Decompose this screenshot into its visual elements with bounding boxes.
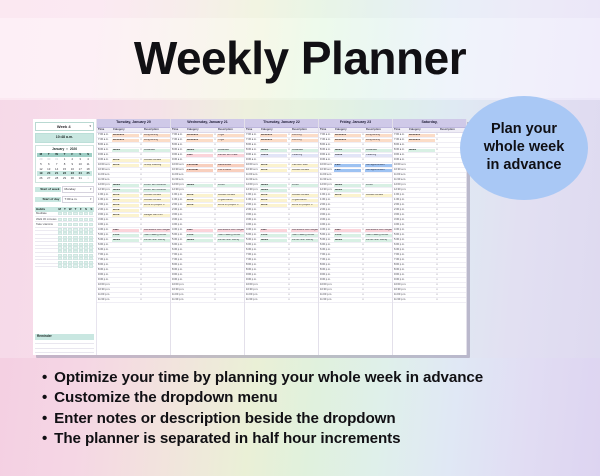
chevron-down-icon-slot[interactable]: ▾ <box>287 174 291 177</box>
slot-category-dropdown[interactable]: Pets <box>334 169 361 172</box>
chevron-down-icon-slot[interactable]: ▾ <box>213 254 217 257</box>
start-of-day-row[interactable]: Start of day 7:00 a.m. ▾ <box>35 196 94 203</box>
chevron-down-icon-slot[interactable]: ▾ <box>287 299 291 302</box>
week-selector[interactable]: Week 4 ▾ <box>35 122 94 131</box>
slot-time: 1:00 p.m. <box>171 194 186 197</box>
habit-checkbox[interactable] <box>73 264 77 267</box>
habit-checkbox[interactable] <box>58 218 62 221</box>
slot-description-input[interactable]: Vet appointment <box>365 169 392 172</box>
chevron-down-icon-slot[interactable]: ▾ <box>435 179 439 182</box>
slot-category-dropdown[interactable]: Meals <box>260 149 287 152</box>
chevron-down-icon-slot[interactable]: ▾ <box>213 179 217 182</box>
chevron-down-icon-slot[interactable]: ▾ <box>213 264 217 267</box>
slot-description-input[interactable]: Lunch <box>365 184 392 187</box>
day-column-0[interactable]: Tuesday, January 20TimeCategoryDescripti… <box>97 119 171 355</box>
slot-description-input[interactable]: Cleaning <box>291 154 318 157</box>
habit-checkbox[interactable] <box>68 218 72 221</box>
slot-description-input[interactable]: Running <box>291 139 318 142</box>
chevron-down-icon-slot[interactable]: ▾ <box>139 169 143 172</box>
slot-description-input[interactable]: Breakfast <box>143 149 170 152</box>
calendar-day-cell[interactable]: 29 <box>61 176 69 181</box>
chevron-down-icon-slot[interactable]: ▾ <box>435 149 439 152</box>
chevron-down-icon[interactable]: ▾ <box>89 125 91 128</box>
chevron-down-icon-slot[interactable]: ▾ <box>139 289 143 292</box>
slot-category-dropdown[interactable]: Meals <box>186 184 213 187</box>
slot-description-input[interactable]: Organization <box>217 199 244 202</box>
chevron-down-icon-slot[interactable]: ▾ <box>435 219 439 222</box>
slot-category-dropdown[interactable]: Meals <box>260 189 287 192</box>
slot-category-dropdown[interactable]: Kids <box>112 229 139 232</box>
habit-checkbox[interactable] <box>84 264 88 267</box>
reminder-line[interactable] <box>35 349 94 354</box>
day-columns[interactable]: Tuesday, January 20TimeCategoryDescripti… <box>97 119 467 355</box>
slot-description-input[interactable]: Answer emails <box>291 169 318 172</box>
schedule-slot[interactable]: 11:30 p.m.▾ <box>393 298 466 303</box>
chevron-down-icon-slot[interactable]: ▾ <box>139 284 143 287</box>
slot-description-input[interactable]: Vet appointment <box>365 164 392 167</box>
habit-checkbox[interactable] <box>58 264 62 267</box>
slot-category-dropdown[interactable]: Meals <box>112 184 139 187</box>
chevron-down-icon-slot[interactable]: ▾ <box>435 224 439 227</box>
weekly-planner-spreadsheet[interactable]: Week 4 ▾ 10:48 a.m. January ▾ 2026 MTWTF… <box>33 119 467 355</box>
habit-checkbox[interactable] <box>89 212 93 215</box>
slot-category-dropdown[interactable]: Meals <box>334 149 361 152</box>
habit-checkbox[interactable] <box>79 212 83 215</box>
habit-tracker[interactable]: HabitsMTWTFSS MeditateWalk 30 minutesTak… <box>35 207 94 267</box>
chevron-down-icon-slot[interactable]: ▾ <box>213 269 217 272</box>
chevron-down-icon-slot[interactable]: ▾ <box>139 259 143 262</box>
chevron-down-icon-slot[interactable]: ▾ <box>287 289 291 292</box>
chevron-down-icon-slot[interactable]: ▾ <box>213 244 217 247</box>
habit-row-empty[interactable] <box>35 264 94 268</box>
chevron-down-icon-slot[interactable]: ▾ <box>213 219 217 222</box>
chevron-down-icon-slot[interactable]: ▾ <box>435 289 439 292</box>
chevron-down-icon-slot[interactable]: ▾ <box>435 284 439 287</box>
slot-category-dropdown[interactable]: Food <box>186 234 213 237</box>
chevron-down-icon-slot[interactable]: ▾ <box>435 254 439 257</box>
slot-description-input[interactable]: Dinner with Family <box>365 239 392 242</box>
habit-checkbox[interactable] <box>58 212 62 215</box>
calendar-year[interactable]: 2026 <box>70 148 77 151</box>
day-column-4[interactable]: Saturday,TimeCategoryDescription7:00 a.m… <box>393 119 467 355</box>
chevron-down-icon-slot[interactable]: ▾ <box>435 299 439 302</box>
chevron-down-icon-slot[interactable]: ▾ <box>213 144 217 147</box>
chevron-down-icon-slot[interactable]: ▾ <box>139 209 143 212</box>
chevron-down-icon-slot[interactable]: ▾ <box>361 214 365 217</box>
chevron-down-icon-slot[interactable]: ▾ <box>361 209 365 212</box>
habit-checkbox[interactable] <box>89 264 93 267</box>
chevron-down-icon-slot[interactable]: ▾ <box>435 209 439 212</box>
slot-category-dropdown[interactable]: Meals <box>260 239 287 242</box>
chevron-down-icon-slot[interactable]: ▾ <box>435 174 439 177</box>
habit-checkbox[interactable] <box>63 218 67 221</box>
slot-description-input[interactable]: Yoga <box>217 134 244 137</box>
slot-description-input[interactable]: Homework with Megan <box>143 229 170 232</box>
chevron-down-icon-day[interactable]: ▾ <box>90 198 92 201</box>
habit-checkbox[interactable] <box>79 218 83 221</box>
chevron-down-icon-slot[interactable]: ▾ <box>213 224 217 227</box>
slot-description-input[interactable]: Homework with Megan <box>291 229 318 232</box>
chevron-down-icon-slot[interactable]: ▾ <box>361 189 365 192</box>
chevron-down-icon-slot[interactable]: ▾ <box>435 144 439 147</box>
chevron-down-icon-slot[interactable]: ▾ <box>361 279 365 282</box>
habit-checkbox[interactable] <box>84 218 88 221</box>
calendar-day-cell[interactable]: 30 <box>68 176 76 181</box>
start-of-day-dropdown[interactable]: 7:00 a.m. ▾ <box>62 196 94 203</box>
slot-description-input[interactable]: Start making dinner <box>365 234 392 237</box>
slot-category-dropdown[interactable]: Meals <box>260 184 287 187</box>
chevron-down-icon-slot[interactable]: ▾ <box>361 204 365 207</box>
chevron-down-icon-slot[interactable]: ▾ <box>435 239 439 242</box>
chevron-down-icon-slot[interactable]: ▾ <box>435 164 439 167</box>
slot-category-dropdown[interactable]: Meals <box>334 239 361 242</box>
chevron-down-icon-slot[interactable]: ▾ <box>435 204 439 207</box>
slot-description-input[interactable]: Answer emails <box>143 194 170 197</box>
chevron-down-icon-slot[interactable]: ▾ <box>361 244 365 247</box>
chevron-down-icon-slot[interactable]: ▾ <box>435 259 439 262</box>
slot-category-dropdown[interactable]: Work <box>260 204 287 207</box>
chevron-down-icon-slot[interactable]: ▾ <box>435 134 439 137</box>
slot-category-dropdown[interactable]: Wellness <box>408 139 435 142</box>
chevron-down-icon-slot[interactable]: ▾ <box>361 249 365 252</box>
chevron-down-icon-slot[interactable]: ▾ <box>287 284 291 287</box>
slot-category-dropdown[interactable]: Wellness <box>112 139 139 142</box>
slot-category-dropdown[interactable]: Meals <box>334 184 361 187</box>
chevron-down-icon-slot[interactable]: ▾ <box>139 264 143 267</box>
habit-checkbox[interactable] <box>63 223 67 226</box>
slot-category-dropdown[interactable]: Work <box>112 209 139 212</box>
slot-description-input[interactable]: Breakfast <box>217 149 244 152</box>
chevron-down-icon-slot[interactable]: ▾ <box>361 269 365 272</box>
slot-category-dropdown[interactable]: Work <box>186 194 213 197</box>
chevron-down-icon-slot[interactable]: ▾ <box>139 179 143 182</box>
slot-description-input[interactable]: Work on project X <box>217 204 244 207</box>
slot-category-dropdown[interactable]: Pets <box>334 164 361 167</box>
slot-description-input[interactable]: Dinner with Family <box>143 239 170 242</box>
slot-description-input[interactable]: Dinner with Family <box>217 239 244 242</box>
slot-description-input[interactable]: Homework with Megan <box>217 229 244 232</box>
habit-checkbox[interactable] <box>58 223 62 226</box>
slot-category-dropdown[interactable]: Food <box>112 234 139 237</box>
chevron-down-icon-slot[interactable]: ▾ <box>435 169 439 172</box>
slot-time: 8:00 p.m. <box>245 264 260 267</box>
chevron-down-icon-slot[interactable]: ▾ <box>435 294 439 297</box>
planner-control-panel[interactable]: Week 4 ▾ 10:48 a.m. January ▾ 2026 MTWTF… <box>33 119 97 355</box>
slot-category-dropdown[interactable]: Food <box>260 234 287 237</box>
chevron-down-icon-slot[interactable]: ▾ <box>287 144 291 147</box>
reminder-lines[interactable] <box>35 340 94 354</box>
chevron-down-icon-slot[interactable]: ▾ <box>287 294 291 297</box>
slot-description-input[interactable]: Dentist with Kate <box>217 154 244 157</box>
chevron-down-icon-slot[interactable]: ▾ <box>287 179 291 182</box>
calendar-day-cell[interactable]: 31 <box>76 176 84 181</box>
chevron-down-icon-slot[interactable]: ▾ <box>435 194 439 197</box>
chevron-down-icon-slot[interactable]: ▾ <box>213 189 217 192</box>
chevron-down-icon-slot[interactable]: ▾ <box>139 294 143 297</box>
slot-category-dropdown[interactable]: Work <box>260 164 287 167</box>
slot-category-dropdown[interactable]: Work <box>112 199 139 202</box>
slot-time: 12:00 p.m. <box>97 184 112 187</box>
habit-checkbox[interactable] <box>68 264 72 267</box>
slot-description-input[interactable]: Homework with Megan <box>365 229 392 232</box>
day-column-1[interactable]: Wednesday, January 21TimeCategoryDescrip… <box>171 119 245 355</box>
slot-description-input[interactable]: Start making dinner <box>143 234 170 237</box>
habit-checkbox[interactable] <box>89 223 93 226</box>
slot-description-input[interactable]: Work on project X <box>143 204 170 207</box>
slot-category-dropdown[interactable]: Kids <box>186 154 213 157</box>
reminder-section[interactable]: Reminder <box>35 334 94 353</box>
slot-category-dropdown[interactable]: Wellness <box>186 139 213 142</box>
chevron-down-icon-slot[interactable]: ▾ <box>435 249 439 252</box>
chevron-down-icon-slot[interactable]: ▾ <box>361 224 365 227</box>
chevron-down-icon-slot[interactable]: ▾ <box>361 144 365 147</box>
chevron-down-icon-slot[interactable]: ▾ <box>139 249 143 252</box>
slot-description-input[interactable]: Budget with Lori <box>143 214 170 217</box>
slot-category-dropdown[interactable]: Work <box>186 199 213 202</box>
slot-category-dropdown[interactable]: Wellness <box>334 139 361 142</box>
chevron-down-icon-slot[interactable]: ▾ <box>435 159 439 162</box>
day-column-2[interactable]: Thursday, January 22TimeCategoryDescript… <box>245 119 319 355</box>
chevron-down-icon-slot[interactable]: ▾ <box>287 219 291 222</box>
chevron-down-icon-slot[interactable]: ▾ <box>139 279 143 282</box>
calendar-day-cell[interactable]: 1 <box>84 176 92 181</box>
slot-description-input[interactable]: Answer emails <box>143 159 170 162</box>
slot-description-input[interactable]: Answer emails <box>365 194 392 197</box>
slot-description-input[interactable]: Lunch <box>217 184 244 187</box>
chevron-down-icon-slot[interactable]: ▾ <box>213 214 217 217</box>
chevron-down-icon-slot[interactable]: ▾ <box>213 249 217 252</box>
chevron-down-icon-slot[interactable]: ▾ <box>435 279 439 282</box>
schedule-slot[interactable]: 11:30 p.m.▾ <box>171 298 244 303</box>
slot-description-input[interactable]: Cleaning <box>365 154 392 157</box>
chevron-down-icon-slot[interactable]: ▾ <box>287 244 291 247</box>
chevron-down-icon-slot[interactable]: ▾ <box>287 224 291 227</box>
chevron-down-icon-slot[interactable]: ▾ <box>361 174 365 177</box>
start-of-week-row[interactable]: Start of week Monday ▾ <box>35 186 94 193</box>
habit-checkbox[interactable] <box>63 212 67 215</box>
chevron-down-icon-slot[interactable]: ▾ <box>361 259 365 262</box>
chevron-down-icon-slot[interactable]: ▾ <box>287 214 291 217</box>
chevron-down-icon-slot[interactable]: ▾ <box>435 214 439 217</box>
chevron-down-icon-slot[interactable]: ▾ <box>139 244 143 247</box>
habit-checkbox[interactable] <box>84 223 88 226</box>
slot-category-dropdown[interactable]: Meals <box>334 189 361 192</box>
chevron-down-icon-slot[interactable]: ▾ <box>213 299 217 302</box>
chevron-down-icon-slot[interactable]: ▾ <box>213 259 217 262</box>
slot-category-dropdown[interactable]: Wellness <box>260 139 287 142</box>
slot-description-input[interactable]: Organization <box>291 199 318 202</box>
slot-category-dropdown[interactable]: Meals <box>186 239 213 242</box>
chevron-down-icon-slot[interactable]: ▾ <box>139 154 143 157</box>
chevron-down-icon-slot[interactable]: ▾ <box>213 284 217 287</box>
slot-category-dropdown[interactable]: Meals <box>112 189 139 192</box>
chevron-down-icon-slot[interactable]: ▾ <box>287 279 291 282</box>
slot-description-input[interactable]: Running <box>291 134 318 137</box>
slot-category-dropdown[interactable]: Work <box>112 194 139 197</box>
slot-description-input[interactable]: Start making dinner <box>217 234 244 237</box>
week-label: Week 4 <box>38 125 89 129</box>
slot-category-dropdown[interactable]: Work <box>260 169 287 172</box>
chevron-down-icon-slot[interactable]: ▾ <box>435 269 439 272</box>
slot-category-dropdown[interactable]: Work <box>334 194 361 197</box>
chevron-down-icon-slot[interactable]: ▾ <box>287 249 291 252</box>
chevron-down-icon-slot[interactable]: ▾ <box>435 189 439 192</box>
chevron-down-icon-slot[interactable]: ▾ <box>361 254 365 257</box>
slot-category-dropdown[interactable]: Work <box>186 204 213 207</box>
slot-category-dropdown[interactable]: Work <box>260 199 287 202</box>
chevron-down-icon-slot[interactable]: ▾ <box>361 199 365 202</box>
habit-checkbox[interactable] <box>73 223 77 226</box>
slot-description-input[interactable]: Lunch with Andrew <box>143 184 170 187</box>
habit-checkbox[interactable] <box>73 218 77 221</box>
slot-category-dropdown[interactable]: Food <box>334 234 361 237</box>
slot-description-input[interactable]: Breakfast <box>365 149 392 152</box>
schedule-slot[interactable]: 11:30 p.m.▾ <box>97 298 170 303</box>
chevron-down-icon-slot[interactable]: ▾ <box>213 174 217 177</box>
chevron-down-icon-slot[interactable]: ▾ <box>435 184 439 187</box>
slot-category-dropdown[interactable]: Meals <box>408 149 435 152</box>
slot-description-input[interactable]: Answer emails <box>217 194 244 197</box>
habit-checkbox[interactable] <box>68 223 72 226</box>
slot-time: 2:30 p.m. <box>97 209 112 212</box>
chevron-down-icon-slot[interactable]: ▾ <box>213 289 217 292</box>
slot-category-dropdown[interactable]: Kids <box>260 229 287 232</box>
chevron-down-icon-slot[interactable]: ▾ <box>139 224 143 227</box>
chevron-down-icon-slot[interactable]: ▾ <box>213 279 217 282</box>
slot-category-dropdown[interactable]: Work <box>112 159 139 162</box>
chevron-down-icon-slot[interactable]: ▾ <box>213 159 217 162</box>
slot-description-input[interactable]: Weightlifting <box>365 139 392 142</box>
slot-description-input[interactable]: Work on project X <box>291 204 318 207</box>
calendar-day-cell[interactable]: 28 <box>53 176 61 181</box>
chevron-down-icon-slot[interactable]: ▾ <box>435 229 439 232</box>
chevron-down-icon-slot[interactable]: ▾ <box>435 154 439 157</box>
chevron-down-icon-slot[interactable]: ▾ <box>287 264 291 267</box>
slot-category-dropdown[interactable]: Personal <box>186 164 213 167</box>
slot-category-dropdown[interactable]: Work <box>260 194 287 197</box>
slot-category-dropdown[interactable]: Work <box>112 164 139 167</box>
chevron-down-icon-slot[interactable]: ▾ <box>361 264 365 267</box>
slot-category-dropdown[interactable]: Home <box>260 154 287 157</box>
chevron-down-icon-slot[interactable]: ▾ <box>139 269 143 272</box>
start-of-week-dropdown[interactable]: Monday ▾ <box>62 186 94 193</box>
habit-checkbox[interactable] <box>63 264 67 267</box>
slot-category-dropdown[interactable]: Wellness <box>260 134 287 137</box>
chevron-down-icon-slot[interactable]: ▾ <box>287 259 291 262</box>
chevron-down-icon-slot[interactable]: ▾ <box>287 274 291 277</box>
chevron-down-icon-slot[interactable]: ▾ <box>213 209 217 212</box>
slot-description-input[interactable]: Dinner with Family <box>291 239 318 242</box>
chevron-down-icon-slot[interactable]: ▾ <box>139 144 143 147</box>
slot-category-dropdown[interactable]: Personal <box>186 169 213 172</box>
habit-tracker-body[interactable]: MeditateWalk 30 minutesTake vitamins <box>35 212 94 268</box>
schedule-slot[interactable]: 11:30 p.m.▾ <box>319 298 392 303</box>
chevron-down-icon-slot[interactable]: ▾ <box>287 269 291 272</box>
chevron-down-icon-slot[interactable]: ▾ <box>139 174 143 177</box>
slot-description-input[interactable]: Start making dinner <box>291 234 318 237</box>
calendar-day-cell[interactable]: 26 <box>37 176 45 181</box>
chevron-down-icon-slot[interactable]: ▾ <box>435 244 439 247</box>
slot-description-input[interactable]: Answer emails <box>291 194 318 197</box>
chevron-down-icon-slot[interactable]: ▾ <box>287 254 291 257</box>
habit-checkbox[interactable] <box>84 212 88 215</box>
mini-calendar[interactable]: January ▾ 2026 MTWTFSS 29303112345678910… <box>35 145 94 183</box>
slot-description-input[interactable]: Lunch with Andrew <box>143 189 170 192</box>
slot-category-dropdown[interactable]: Kids <box>334 229 361 232</box>
slot-description-input[interactable]: Yoga <box>217 139 244 142</box>
slot-description-input[interactable]: Group meeting <box>143 164 170 167</box>
slot-category-dropdown[interactable]: Work <box>112 204 139 207</box>
chevron-down-icon-slot[interactable]: ▾ <box>361 274 365 277</box>
habit-checkbox[interactable] <box>89 218 93 221</box>
slot-category-dropdown[interactable]: Kids <box>186 229 213 232</box>
slot-category-dropdown[interactable]: Meals <box>112 149 139 152</box>
slot-description-input[interactable]: Hairdresser <box>217 164 244 167</box>
slot-category-dropdown[interactable]: Wellness <box>334 134 361 137</box>
slot-description-input[interactable]: Lunch <box>291 184 318 187</box>
habit-checkbox[interactable] <box>79 264 83 267</box>
slot-category-dropdown[interactable]: Wellness <box>112 134 139 137</box>
chevron-down-icon-slot[interactable]: ▾ <box>361 179 365 182</box>
chevron-down-icon-slot[interactable]: ▾ <box>287 189 291 192</box>
habit-checkbox[interactable] <box>79 223 83 226</box>
calendar-day-cell[interactable]: 27 <box>45 176 53 181</box>
chevron-down-icon-slot[interactable]: ▾ <box>361 159 365 162</box>
chevron-down-icon-slot[interactable]: ▾ <box>361 219 365 222</box>
chevron-down-icon-slot[interactable]: ▾ <box>139 254 143 257</box>
slot-description-input[interactable]: Answer emails <box>143 199 170 202</box>
chevron-down-icon-slot[interactable]: ▾ <box>139 274 143 277</box>
slot-time: 2:30 p.m. <box>319 209 334 212</box>
slot-category-dropdown[interactable]: Home <box>334 154 361 157</box>
chevron-down-icon-slot[interactable]: ▾ <box>361 284 365 287</box>
habit-checkbox[interactable] <box>68 212 72 215</box>
chevron-down-icon-slot[interactable]: ▾ <box>213 274 217 277</box>
chevron-down-icon-slot[interactable]: ▾ <box>435 264 439 267</box>
calendar-month[interactable]: January <box>52 148 64 151</box>
chevron-down-icon-slot[interactable]: ▾ <box>361 299 365 302</box>
chevron-down-icon-slot[interactable]: ▾ <box>139 219 143 222</box>
slot-category-dropdown[interactable]: Meals <box>186 149 213 152</box>
slot-description-input[interactable]: Cut & Blow <box>217 169 244 172</box>
chevron-down-icon-slot[interactable]: ▾ <box>287 159 291 162</box>
slot-category-dropdown[interactable]: Work <box>112 214 139 217</box>
chevron-down-icon-slot[interactable]: ▾ <box>139 299 143 302</box>
chevron-down-icon-month[interactable]: ▾ <box>66 148 68 151</box>
slot-description-input[interactable]: Call with Sam <box>291 164 318 167</box>
slot-description-input[interactable]: Weightlifting <box>365 134 392 137</box>
chevron-down-icon-slot[interactable]: ▾ <box>435 234 439 237</box>
chevron-down-icon-slot[interactable]: ▾ <box>435 274 439 277</box>
slot-description-input[interactable]: Weightlifting <box>143 134 170 137</box>
slot-category-dropdown[interactable]: Wellness <box>186 134 213 137</box>
chevron-down-icon-slot[interactable]: ▾ <box>361 294 365 297</box>
chevron-down-icon-slot[interactable]: ▾ <box>361 289 365 292</box>
chevron-down-icon-slot[interactable]: ▾ <box>435 139 439 142</box>
slot-category-dropdown[interactable]: Wellness <box>408 134 435 137</box>
schedule-slot[interactable]: 11:30 p.m.▾ <box>245 298 318 303</box>
mini-calendar-day-grid[interactable]: 2930311234567891011121314151617181920212… <box>37 157 92 181</box>
chevron-down-icon-slot[interactable]: ▾ <box>213 294 217 297</box>
slot-description-input[interactable]: Breakfast <box>291 149 318 152</box>
chevron-down-icon-slot[interactable]: ▾ <box>435 199 439 202</box>
day-column-3[interactable]: Friday, January 23TimeCategoryDescriptio… <box>319 119 393 355</box>
slot-category-dropdown[interactable]: Meals <box>112 239 139 242</box>
chevron-down-icon-slot[interactable]: ▾ <box>287 209 291 212</box>
chevron-down-icon-week[interactable]: ▾ <box>90 188 92 191</box>
habit-checkbox[interactable] <box>73 212 77 215</box>
slot-description-input[interactable]: Weightlifting <box>143 139 170 142</box>
